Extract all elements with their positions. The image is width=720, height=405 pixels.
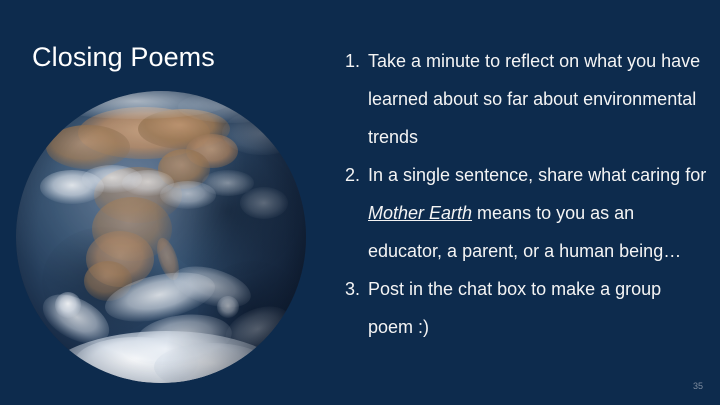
earth-globe [16,91,306,383]
instruction-list: 1. Take a minute to reflect on what you … [336,42,710,346]
list-item-text: In a single sentence, share what caring … [368,165,706,261]
slide-number: 35 [693,381,703,392]
list-item: 1. Take a minute to reflect on what you … [336,42,710,156]
list-item-text: Post in the chat box to make a group poe… [368,279,661,337]
list-item-text: Take a minute to reflect on what you hav… [368,51,700,147]
list-marker: 1. [336,42,360,80]
emphasized-phrase: Mother Earth [368,203,472,223]
list-marker: 3. [336,270,360,308]
list-item: 2. In a single sentence, share what cari… [336,156,710,270]
page-title: Closing Poems [32,41,215,73]
earth-texture [16,91,306,383]
earth-image [16,91,306,383]
list-item: 3. Post in the chat box to make a group … [336,270,710,346]
list-marker: 2. [336,156,360,194]
presentation-slide: Closing Poems [0,0,720,405]
